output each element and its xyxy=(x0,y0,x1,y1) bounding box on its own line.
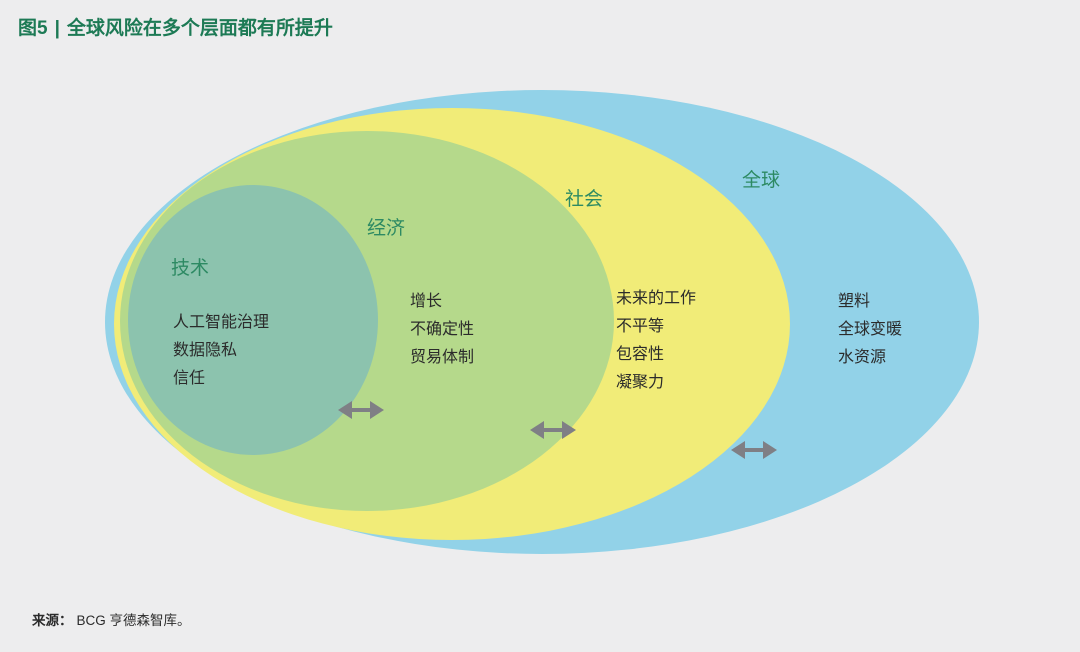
figure-title: 全球风险在多个层面都有所提升 xyxy=(67,13,333,40)
figure-title-separator: | xyxy=(55,18,60,40)
ring-item-economy: 贸易体制 xyxy=(410,348,474,366)
figure-number: 图5 xyxy=(18,13,48,40)
figure-header-inner: 图5 | 全球风险在多个层面都有所提升 xyxy=(0,13,333,40)
source-text: BCG 亨德森智库。 xyxy=(77,609,191,629)
ring-item-global: 塑料 xyxy=(838,292,870,310)
ring-item-technology: 人工智能治理 xyxy=(173,313,269,331)
figure-header: 图5 | 全球风险在多个层面都有所提升 xyxy=(0,0,1080,52)
ring-label-global: 全球 xyxy=(742,169,780,191)
ring-item-global: 水资源 xyxy=(838,348,886,366)
ring-item-society: 包容性 xyxy=(616,345,664,363)
ring-label-society: 社会 xyxy=(565,188,603,210)
source-label: 来源： xyxy=(32,609,73,629)
ring-item-society: 未来的工作 xyxy=(616,289,696,307)
ring-item-economy: 增长 xyxy=(410,292,442,310)
ring-item-society: 不平等 xyxy=(616,317,664,335)
nested-ellipse-diagram: 技术 经济 社会 全球 人工智能治理 数据隐私 信任 增长 不确定性 贸易体制 … xyxy=(0,52,1080,597)
ring-label-technology: 技术 xyxy=(171,257,209,279)
ring-item-economy: 不确定性 xyxy=(410,320,474,338)
ring-item-technology: 数据隐私 xyxy=(173,341,237,359)
figure-footer: 来源： BCG 亨德森智库。 xyxy=(0,597,1080,652)
source-line: 来源： BCG 亨德森智库。 xyxy=(0,597,1080,629)
diagram-canvas: 技术 经济 社会 全球 人工智能治理 数据隐私 信任 增长 不确定性 贸易体制 … xyxy=(0,52,1080,597)
ring-label-economy: 经济 xyxy=(367,217,405,239)
ring-item-technology: 信任 xyxy=(173,369,205,387)
ring-item-society: 凝聚力 xyxy=(616,373,664,391)
ring-item-global: 全球变暖 xyxy=(838,320,902,338)
